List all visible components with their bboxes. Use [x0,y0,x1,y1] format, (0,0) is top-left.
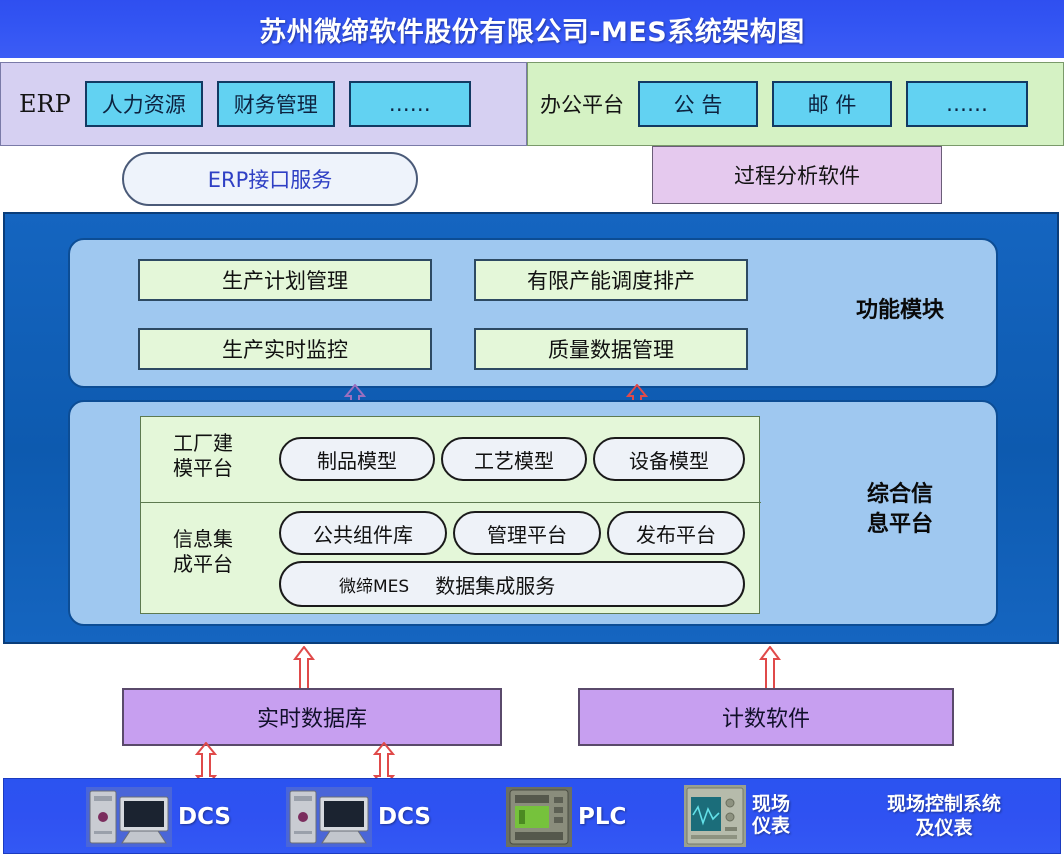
field-control-caption: 现场控制系统 及仪表 [844,793,1044,841]
pill-equipment-model[interactable]: 设备模型 [593,437,745,481]
erp-panel: ERP 人力资源 财务管理 …… [0,62,527,146]
brand-label: 微缔MES [339,572,409,597]
realtime-database-box[interactable]: 实时数据库 [122,688,502,746]
desktop-computer-icon [286,787,372,847]
info-platform-side-label: 综合信 息平台 [810,480,990,539]
counting-software-box[interactable]: 计数软件 [578,688,954,746]
office-platform-panel: 办公平台 公 告 邮 件 …… [527,62,1064,146]
office-module-more[interactable]: …… [906,81,1028,127]
page-title: 苏州微缔软件股份有限公司-MES系统架构图 [259,10,804,49]
pill-data-integration-service[interactable]: 微缔MES 数据集成服务 [279,561,745,607]
desktop-computer-icon [86,787,172,847]
erp-interface-service[interactable]: ERP接口服务 [122,152,418,206]
info-platform-panel: 工厂建 模平台 制品模型 工艺模型 设备模型 信息集 成平台 公共组件库 管理平… [68,400,998,626]
field-control-bar: DCS DCS PLC [3,778,1061,854]
info-platform-side-label-line2: 息平台 [810,510,990,540]
factory-modeling-label-line2: 模平台 [155,456,251,481]
office-platform-label: 办公平台 [540,89,624,119]
platform-green-block: 工厂建 模平台 制品模型 工艺模型 设备模型 信息集 成平台 公共组件库 管理平… [140,416,760,614]
field-control-caption-line2: 及仪表 [844,817,1044,841]
top-systems-row: ERP 人力资源 财务管理 …… 办公平台 公 告 邮 件 …… [0,62,1064,146]
pill-publishing-platform[interactable]: 发布平台 [607,511,745,555]
erp-module-finance[interactable]: 财务管理 [217,81,335,127]
office-module-mail[interactable]: 邮 件 [772,81,892,127]
function-module-panel: 生产计划管理 有限产能调度排产 生产实时监控 质量数据管理 功能模块 [68,238,998,388]
func-box-quality-data[interactable]: 质量数据管理 [474,328,748,370]
func-box-production-plan[interactable]: 生产计划管理 [138,259,432,301]
info-platform-side-label-line1: 综合信 [810,480,990,510]
oscilloscope-instrument-icon [684,785,746,847]
info-integration-row: 信息集 成平台 公共组件库 管理平台 发布平台 微缔MES 数据集成服务 [141,503,761,615]
erp-label: ERP [19,90,71,118]
info-integration-label: 信息集 成平台 [155,527,251,577]
dcs-2-label: DCS [378,804,431,830]
field-device-dcs-2[interactable]: DCS [286,787,431,847]
field-instrument-label-line2: 仪表 [752,815,790,837]
pill-product-model[interactable]: 制品模型 [279,437,435,481]
plc-controller-icon [506,787,572,847]
pill-management-platform[interactable]: 管理平台 [453,511,601,555]
field-instrument-label-line1: 现场 [752,793,790,815]
field-device-dcs-1[interactable]: DCS [86,787,231,847]
field-device-plc[interactable]: PLC [506,787,626,847]
factory-modeling-row: 工厂建 模平台 制品模型 工艺模型 设备模型 [141,417,761,503]
func-box-realtime-monitoring[interactable]: 生产实时监控 [138,328,432,370]
data-integration-service-label: 数据集成服务 [435,570,555,599]
erp-module-more[interactable]: …… [349,81,471,127]
pill-common-component-library[interactable]: 公共组件库 [279,511,447,555]
dcs-1-label: DCS [178,804,231,830]
field-instrument-label: 现场 仪表 [752,794,790,838]
office-module-announcement[interactable]: 公 告 [638,81,758,127]
page-title-bar: 苏州微缔软件股份有限公司-MES系统架构图 [0,0,1064,58]
field-device-instrument[interactable]: 现场 仪表 [684,785,790,847]
pill-process-model[interactable]: 工艺模型 [441,437,587,481]
process-analysis-software[interactable]: 过程分析软件 [652,146,942,204]
plc-label: PLC [578,804,626,830]
erp-module-hr[interactable]: 人力资源 [85,81,203,127]
factory-modeling-label: 工厂建 模平台 [155,431,251,481]
mes-system-container: 生产计划管理 有限产能调度排产 生产实时监控 质量数据管理 功能模块 工厂建 模… [3,212,1059,644]
interface-services-row: ERP接口服务 过程分析软件 [0,146,1064,212]
field-control-caption-line1: 现场控制系统 [844,793,1044,817]
info-integration-label-line1: 信息集 [155,527,251,552]
function-module-side-label: 功能模块 [810,296,990,326]
info-integration-label-line2: 成平台 [155,552,251,577]
func-box-capacity-scheduling[interactable]: 有限产能调度排产 [474,259,748,301]
factory-modeling-label-line1: 工厂建 [155,431,251,456]
